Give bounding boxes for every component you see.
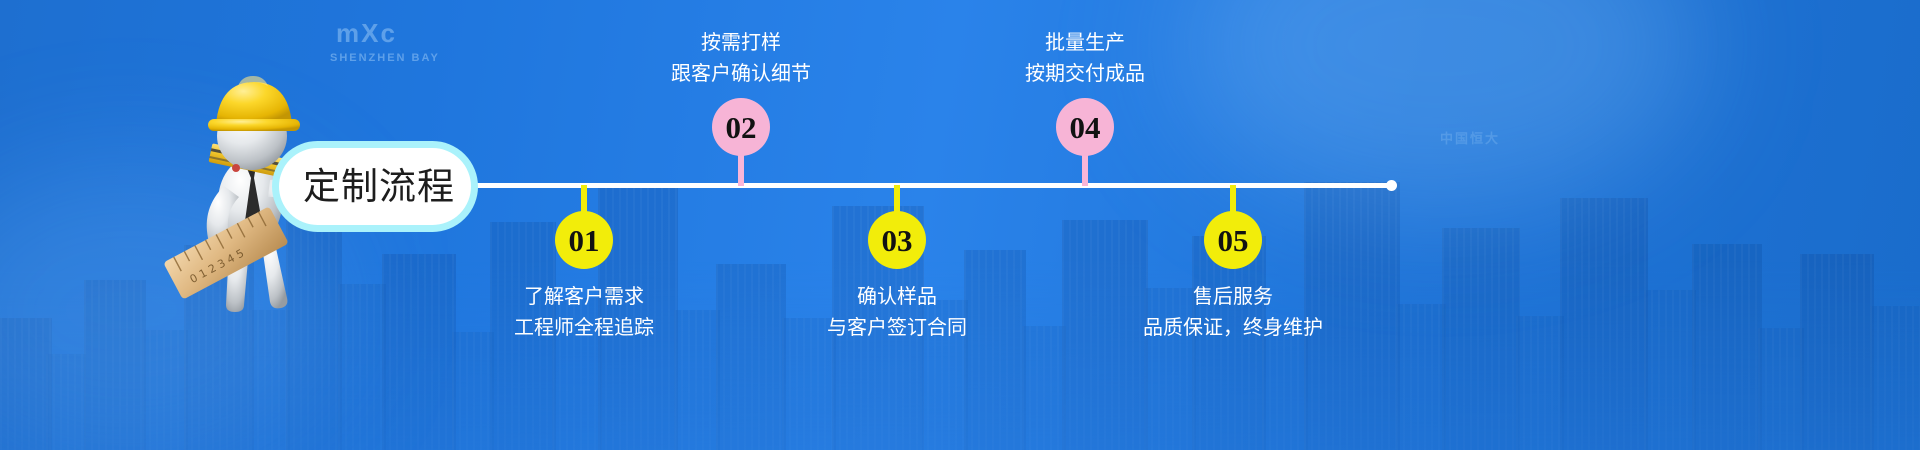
section-title-pill: 定制流程 — [272, 141, 478, 232]
banner-stage: mXc SHENZHEN BAY 中国恒大 — [0, 0, 1920, 450]
step-03-line2: 与客户签订合同 — [827, 312, 967, 343]
step-02-line2: 跟客户确认细节 — [671, 58, 811, 89]
timeline-step-04[interactable]: 04 批量生产 按期交付成品 — [1084, 185, 1086, 186]
step-03-number: 03 — [882, 225, 913, 256]
step-04-badge[interactable]: 04 — [1056, 98, 1114, 156]
step-05-badge[interactable]: 05 — [1204, 211, 1262, 269]
step-03-badge[interactable]: 03 — [868, 211, 926, 269]
step-05-caption: 售后服务 品质保证，终身维护 — [1143, 281, 1323, 343]
step-03-caption: 确认样品 与客户签订合同 — [827, 281, 967, 343]
step-03-line1: 确认样品 — [827, 281, 967, 312]
timeline-step-03[interactable]: 03 确认样品 与客户签订合同 — [896, 185, 898, 186]
timeline-axis — [430, 183, 1392, 188]
step-01-line2: 工程师全程追踪 — [514, 312, 654, 343]
page-title: 定制流程 — [303, 168, 455, 205]
timeline-step-05[interactable]: 05 售后服务 品质保证，终身维护 — [1232, 185, 1234, 186]
step-02-number: 02 — [726, 112, 757, 143]
step-01-line1: 了解客户需求 — [514, 281, 654, 312]
step-01-number: 01 — [569, 225, 600, 256]
step-01-caption: 了解客户需求 工程师全程追踪 — [514, 281, 654, 343]
step-04-caption: 批量生产 按期交付成品 — [1025, 27, 1145, 89]
watermark-right-logo: 中国恒大 — [1440, 128, 1500, 147]
timeline-step-02[interactable]: 02 按需打样 跟客户确认细节 — [740, 185, 742, 186]
step-04-line1: 批量生产 — [1025, 27, 1145, 58]
step-05-line1: 售后服务 — [1143, 281, 1323, 312]
step-05-number: 05 — [1218, 225, 1249, 256]
timeline-end-dot — [1386, 180, 1397, 191]
step-01-badge[interactable]: 01 — [555, 211, 613, 269]
step-02-badge[interactable]: 02 — [712, 98, 770, 156]
step-02-caption: 按需打样 跟客户确认细节 — [671, 27, 811, 89]
watermark-logo: mXc — [336, 18, 397, 49]
timeline-step-01[interactable]: 01 了解客户需求 工程师全程追踪 — [583, 185, 585, 186]
step-04-line2: 按期交付成品 — [1025, 58, 1145, 89]
step-04-number: 04 — [1070, 112, 1101, 143]
step-05-line2: 品质保证，终身维护 — [1143, 312, 1323, 343]
step-02-line1: 按需打样 — [671, 27, 811, 58]
